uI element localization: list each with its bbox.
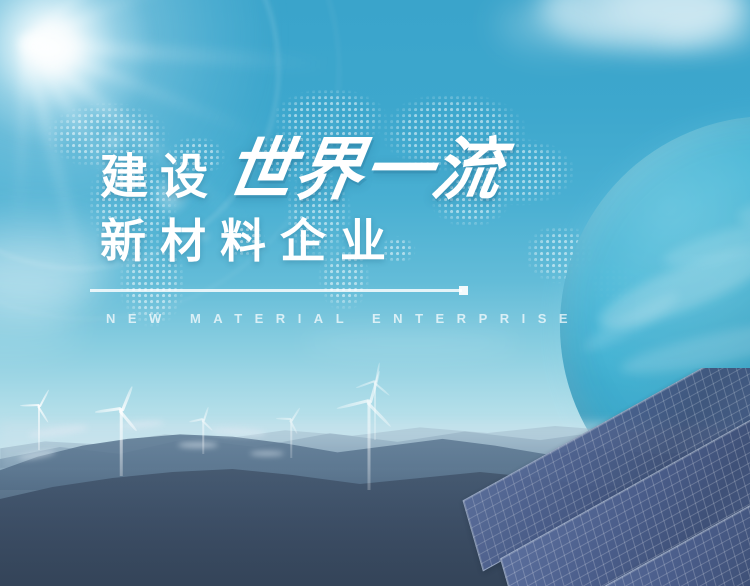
hero-banner: 建设 世界一流 新材料企业 NEW MATERIAL ENTERPRISE (0, 0, 750, 586)
headline-line-2: 新材料企业 (100, 216, 620, 267)
wind-turbine (276, 420, 306, 458)
headline-block: 建设 世界一流 新材料企业 NEW MATERIAL ENTERPRISE (100, 128, 620, 326)
headline-emphasis: 世界一流 (221, 136, 508, 204)
divider-cap-icon (459, 286, 468, 295)
headline-divider (90, 289, 462, 292)
solar-panel-array (370, 368, 750, 586)
wind-turbine (22, 406, 56, 450)
headline-subtitle: NEW MATERIAL ENTERPRISE (106, 311, 620, 326)
wind-turbine (98, 410, 144, 476)
headline-prefix: 建设 (100, 154, 220, 204)
headline-line-1: 建设 世界一流 (100, 128, 620, 204)
wind-turbine (190, 420, 216, 454)
